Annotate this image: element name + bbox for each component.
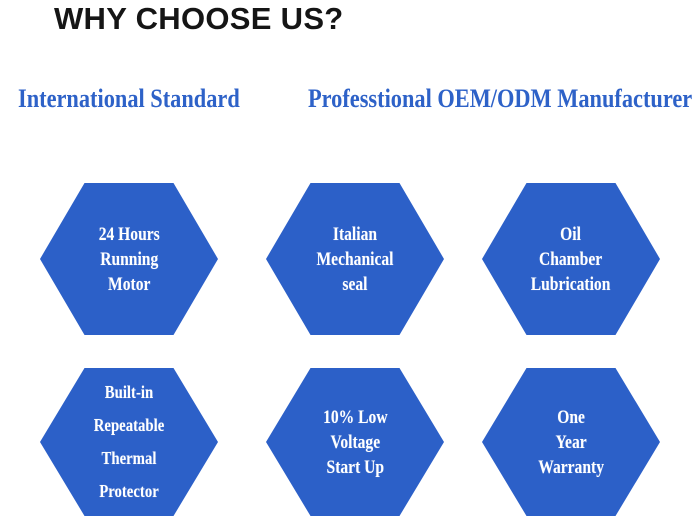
- feature-label-line: Warranty: [538, 455, 604, 480]
- page-title: WHY CHOOSE US?: [54, 2, 344, 36]
- feature-hexagon-one-year-warranty: One Year Warranty: [482, 368, 660, 516]
- feature-label-line: Built-in: [94, 376, 165, 409]
- feature-label: Oil Chamber Lubrication: [528, 222, 614, 297]
- feature-label-line: Protector: [94, 475, 165, 508]
- feature-label-line: Oil: [531, 222, 611, 247]
- feature-label-line: 10% Low: [323, 405, 387, 430]
- feature-hexagon-24-hours-running-motor: 24 Hours Running Motor: [40, 183, 218, 335]
- feature-label-line: Chamber: [531, 247, 611, 272]
- feature-label: Italian Mechanical seal: [313, 222, 397, 297]
- feature-hexagon-oil-chamber-lubrication: Oil Chamber Lubrication: [482, 183, 660, 335]
- feature-label: 10% Low Voltage Start Up: [319, 405, 390, 480]
- feature-label-line: seal: [316, 272, 393, 297]
- why-choose-us-poster: WHY CHOOSE US? International Standard Pr…: [0, 0, 700, 528]
- subheading-oem-odm-manufacturer: Professtional OEM/ODM Manufacturer: [308, 86, 692, 112]
- feature-hexagon-built-in-repeatable-thermal-protector: Built-in Repeatable Thermal Protector: [40, 368, 218, 516]
- feature-label-line: Thermal: [94, 442, 165, 475]
- feature-label-line: Lubrication: [531, 272, 611, 297]
- subheading-international-standard: International Standard: [18, 86, 240, 112]
- feature-label: One Year Warranty: [535, 405, 607, 480]
- feature-label: 24 Hours Running Motor: [95, 222, 163, 297]
- feature-label-line: Italian: [316, 222, 393, 247]
- feature-label-line: Voltage: [323, 430, 387, 455]
- feature-label-line: Mechanical: [316, 247, 393, 272]
- feature-label-line: Running: [98, 247, 159, 272]
- feature-hexagon-italian-mechanical-seal: Italian Mechanical seal: [266, 183, 444, 335]
- feature-label-line: One: [538, 405, 604, 430]
- feature-label: Built-in Repeatable Thermal Protector: [90, 376, 167, 508]
- feature-label-line: 24 Hours: [98, 222, 159, 247]
- feature-label-line: Year: [538, 430, 604, 455]
- feature-label-line: Start Up: [323, 455, 387, 480]
- feature-hexagon-10-percent-low-voltage-start-up: 10% Low Voltage Start Up: [266, 368, 444, 516]
- feature-label-line: Repeatable: [94, 409, 165, 442]
- feature-label-line: Motor: [98, 272, 159, 297]
